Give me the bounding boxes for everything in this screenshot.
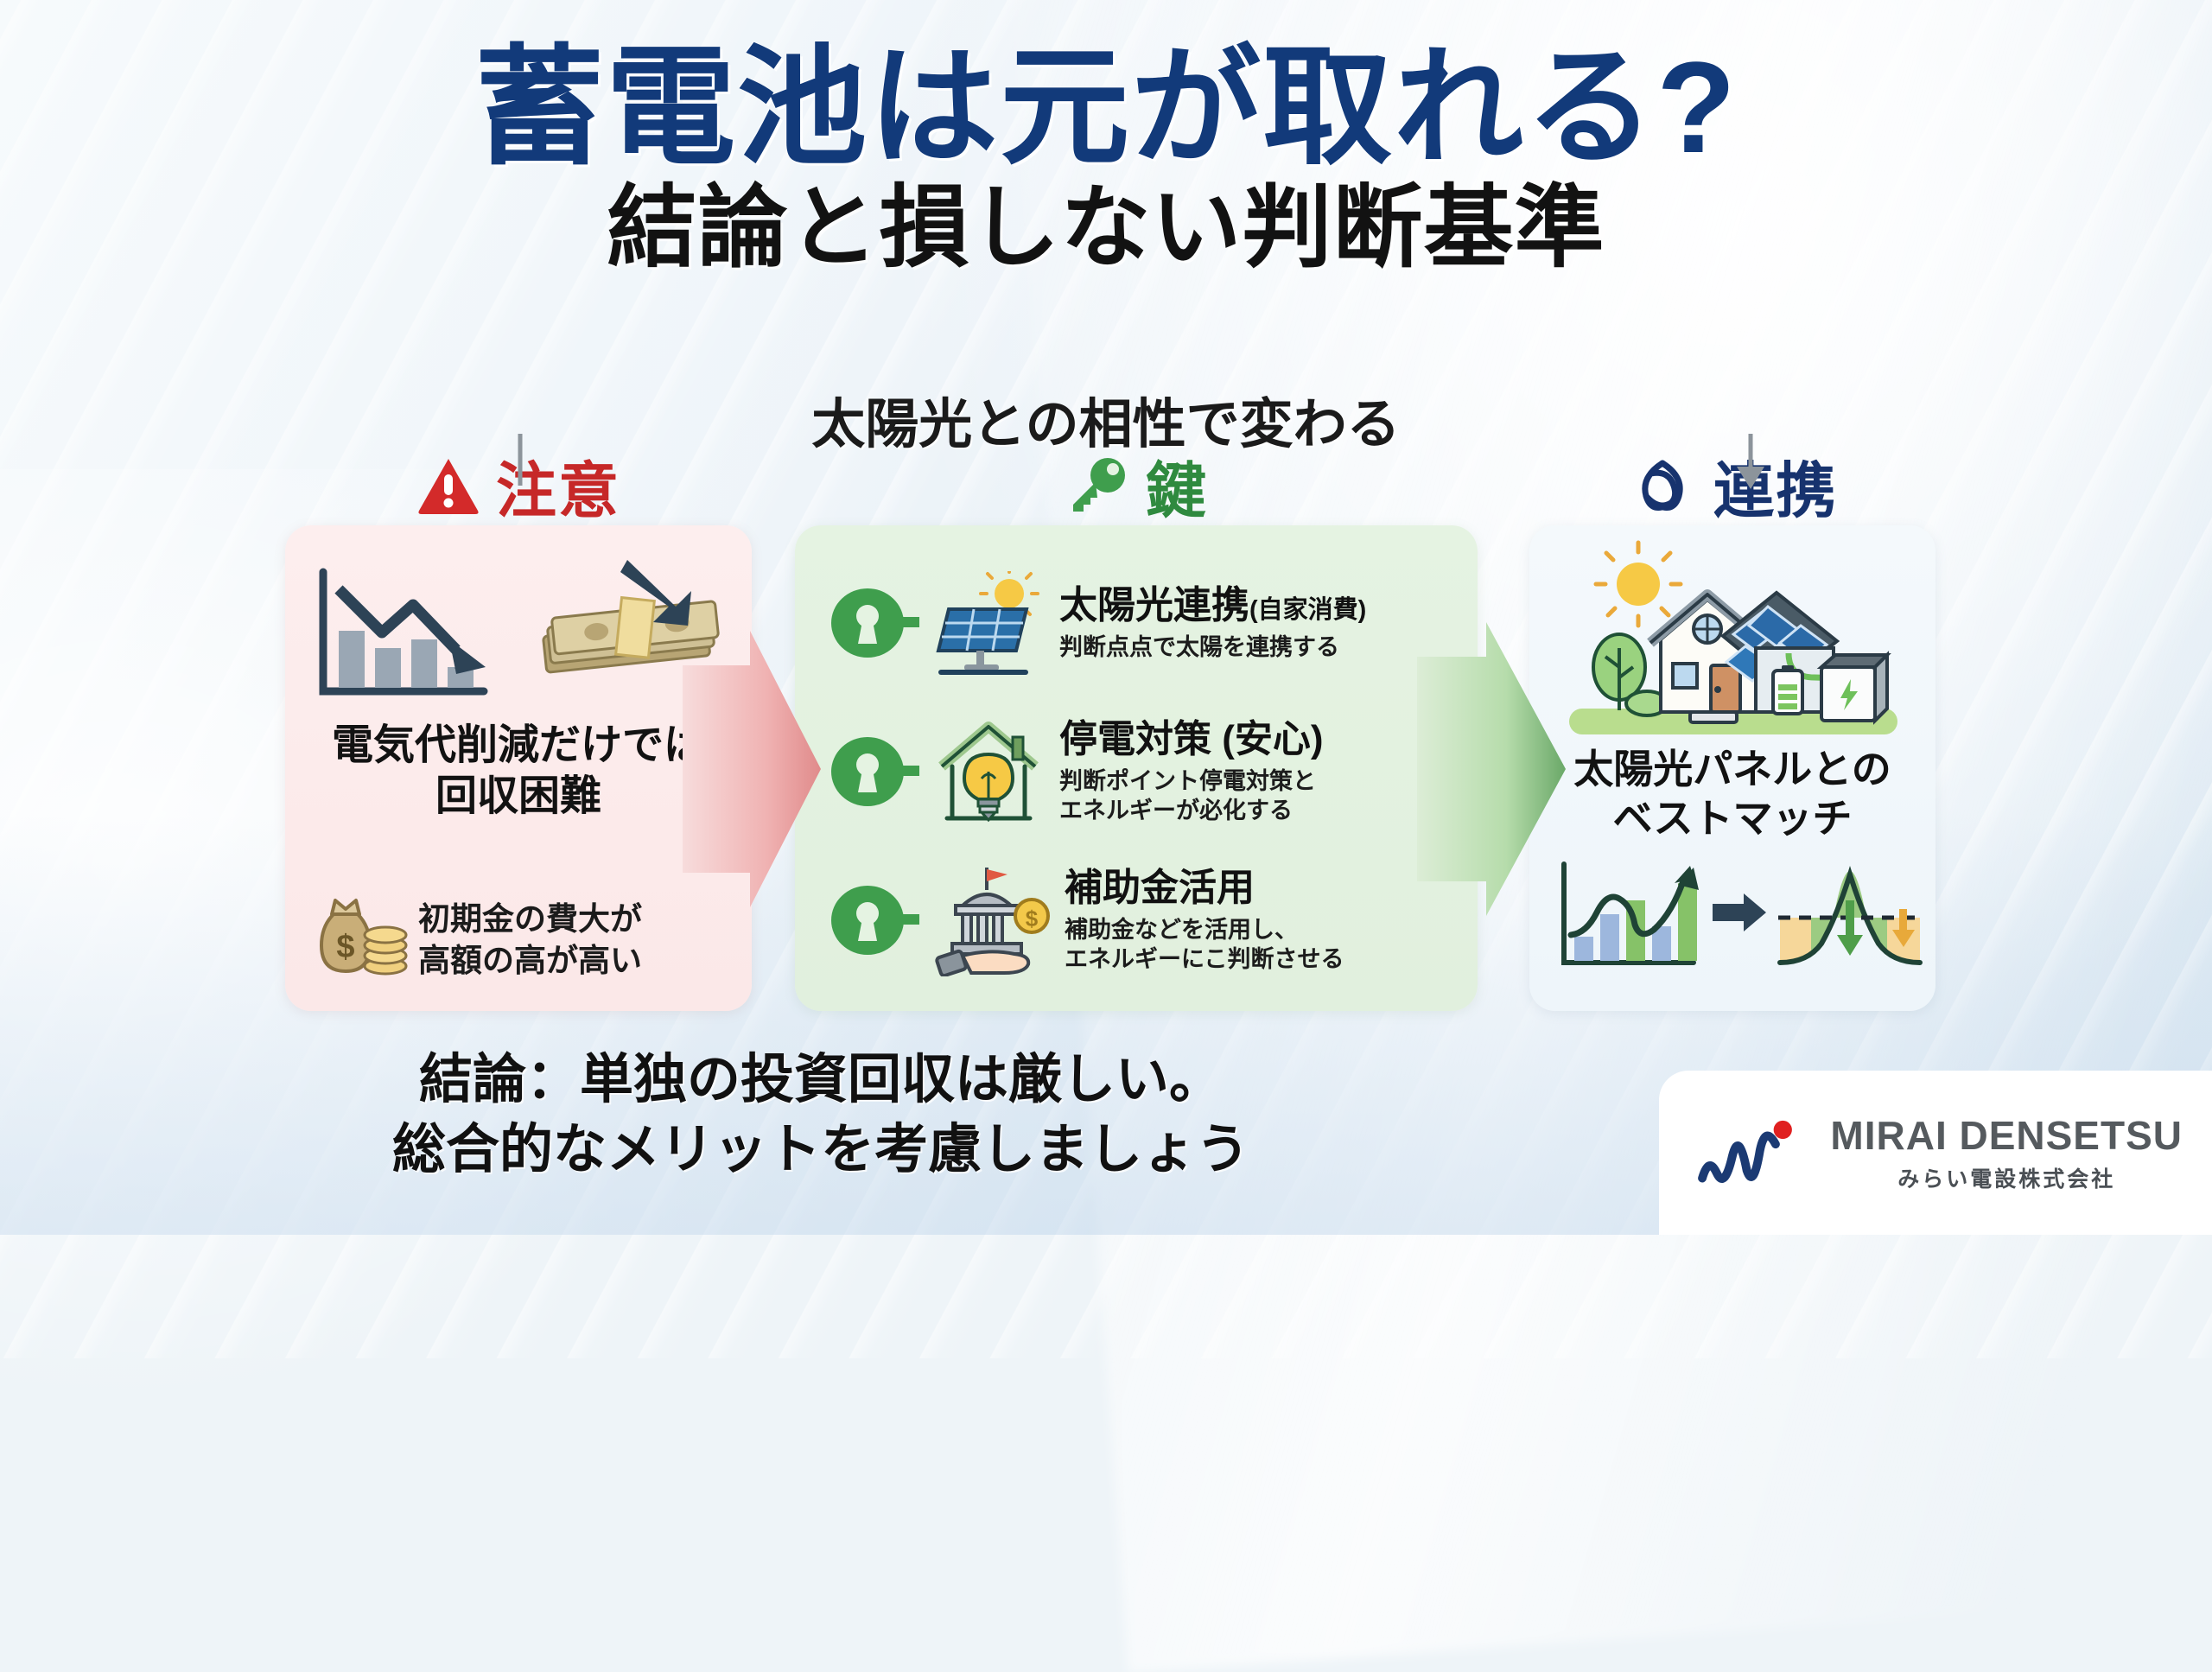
battery-unit-icon (1821, 655, 1887, 721)
flow-arrow-left-to-middle (683, 596, 829, 942)
keyhole-icon (828, 732, 919, 811)
page-title: 蓄電池は元が取れる? (0, 40, 2212, 176)
list-item-title-main: 太陽光連携 (1059, 584, 1249, 626)
caution-heading-line1: 電気代削減だけでは (285, 721, 752, 772)
flow-arrow-middle-to-right (1417, 596, 1573, 942)
list-item-desc: 補助金などを活用し、 エネルギーにこ判断させる (1065, 915, 1344, 974)
battery-indicator-icon (1773, 665, 1802, 714)
panel-keys: 鍵 (795, 525, 1478, 1011)
solar-panel-icon (938, 609, 1028, 675)
list-item-desc: 判断点点で太陽を連携する (1059, 633, 1366, 662)
conclusion-line2: 総合的なメリットを考慮しましょう (0, 1116, 1642, 1186)
load-shift-curve-icon (1778, 871, 1923, 963)
list-item-desc-line1: 判断ポイント停電対策と (1059, 766, 1324, 796)
declining-chart-and-money-icon (285, 553, 752, 717)
list-item: 太陽光連携(自家消費) 判断点点で太陽を連携する (828, 555, 1455, 691)
integration-chart-illustration (1529, 850, 1935, 997)
logo-text: MIRAI DENSETSU みらい電設株式会社 (1830, 1112, 2183, 1193)
list-item: $ 補助金活用 補助金などを活用し、 エネルギーにこ判断させる (828, 852, 1455, 989)
logo-name-jp: みらい電設株式会社 (1897, 1162, 2115, 1193)
logo-block: MIRAI DENSETSU みらい電設株式会社 (1659, 1071, 2212, 1235)
caution-footer-line1: 初期金の費大が (418, 899, 642, 940)
list-item-text: 太陽光連携(自家消費) 判断点点で太陽を連携する (1059, 584, 1366, 661)
hand-icon (936, 950, 1028, 976)
conclusion-line1: 結論：単独の投資回収は厳しい。 (0, 1046, 1642, 1116)
caution-footer: $ 初期金の費大が 高額の高が高い (285, 892, 752, 989)
keyhole-icon (828, 583, 919, 663)
page-subtitle: 結論と損しない判断基準 (0, 181, 2212, 276)
list-item-title-paren: (自家消費) (1249, 596, 1366, 624)
sun-icon (1596, 543, 1681, 626)
coin-icon: $ (1015, 900, 1048, 932)
keyhole-icon (828, 881, 919, 960)
header: 蓄電池は元が取れる? 結論と損しない判断基準 (0, 0, 2212, 276)
connector-row: 太陽光との相性で変わる (0, 380, 2212, 493)
light-bulb-icon (964, 754, 1013, 820)
integration-heading: 太陽光パネルとの ベストマッチ (1529, 745, 1935, 843)
caution-heading-line2: 回収困難 (285, 772, 752, 823)
integration-heading-line1: 太陽光パネルとの (1529, 745, 1935, 794)
money-bag-coins-icon: $ (308, 892, 410, 989)
rising-bar-line-chart-icon (1564, 864, 1699, 963)
svg-text:$: $ (1026, 906, 1039, 931)
list-item-desc-line2: エネルギーが必化する (1059, 796, 1324, 825)
list-item-desc: 判断ポイント停電対策と エネルギーが必化する (1059, 766, 1324, 825)
growth-chart-to-curve-icon (1529, 850, 1935, 997)
key-points-list: 太陽光連携(自家消費) 判断点点で太陽を連携する (795, 525, 1478, 1011)
caution-footer-text: 初期金の費大が 高額の高が高い (418, 899, 642, 982)
list-item-desc-line2: エネルギーにこ判断させる (1065, 944, 1344, 974)
right-arrow-icon (1713, 893, 1766, 931)
list-item-text: 停電対策 (安心) 判断ポイント停電対策と エネルギーが必化する (1059, 718, 1324, 824)
conclusion-block: 結論：単独の投資回収は厳しい。 総合的なメリットを考慮しましょう (0, 1046, 1642, 1185)
tree-icon (1593, 634, 1668, 715)
logo-name-en: MIRAI DENSETSU (1830, 1112, 2183, 1159)
panel-integration: 連携 (1529, 525, 1935, 1011)
list-item-desc-line1: 判断点点で太陽を連携する (1059, 633, 1366, 662)
mirai-wave-mark-icon (1697, 1097, 1815, 1209)
solar-house-battery-illustration (1529, 539, 1935, 743)
house-bulb-icon (933, 718, 1046, 825)
list-item-title: 太陽光連携(自家消費) (1059, 584, 1366, 626)
logo-red-dot (1774, 1121, 1792, 1139)
list-item-title: 停電対策 (安心) (1059, 718, 1324, 760)
panels-container: 注意 (0, 449, 2212, 1037)
list-item-text: 補助金活用 補助金などを活用し、 エネルギーにこ判断させる (1065, 867, 1344, 973)
caution-illustrations (285, 553, 752, 717)
caution-footer-line2: 高額の高が高い (418, 940, 642, 982)
flag-icon (987, 868, 1007, 890)
svg-text:$: $ (336, 929, 354, 965)
declining-bar-chart-icon (323, 572, 486, 691)
list-item: 停電対策 (安心) 判断ポイント停電対策と エネルギーが必化する (828, 703, 1455, 840)
panel-caution: 注意 (285, 525, 752, 1011)
integration-heading-line2: ベストマッチ (1529, 794, 1935, 843)
solar-panel-sun-icon (933, 571, 1046, 675)
solar-house-battery-icon (1529, 539, 1935, 743)
caution-heading: 電気代削減だけでは 回収困難 (285, 721, 752, 822)
list-item-title: 補助金活用 (1065, 867, 1344, 909)
connector-label: 太陽光との相性で変わる (811, 380, 1400, 458)
list-item-desc-line1: 補助金などを活用し、 (1065, 915, 1344, 944)
government-subsidy-hand-icon: $ (933, 864, 1051, 976)
government-building-icon (952, 894, 1021, 954)
